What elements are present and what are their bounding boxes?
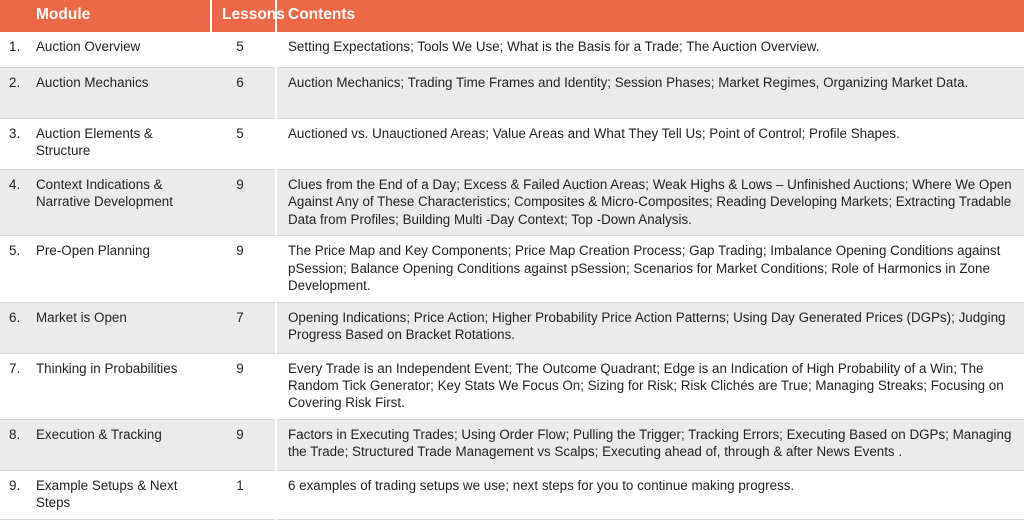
row-module-title: Pre-Open Planning <box>36 236 211 302</box>
row-module-title: Context Indications & Narrative Developm… <box>36 170 211 236</box>
row-number: 6. <box>0 302 36 353</box>
table-header: Module Lessons Contents <box>0 0 1024 32</box>
row-lessons-count: 6 <box>211 68 276 119</box>
table-header-row: Module Lessons Contents <box>0 0 1024 32</box>
column-header-lessons: Lessons <box>211 0 276 32</box>
row-number: 4. <box>0 170 36 236</box>
row-lessons-count: 7 <box>211 302 276 353</box>
row-number: 9. <box>0 470 36 519</box>
row-module-title: Market is Open <box>36 302 211 353</box>
row-number: 3. <box>0 119 36 170</box>
row-lessons-count: 9 <box>211 170 276 236</box>
row-number: 8. <box>0 419 36 470</box>
row-module-title: Execution & Tracking <box>36 419 211 470</box>
row-contents: Clues from the End of a Day; Excess & Fa… <box>276 170 1024 236</box>
row-number: 1. <box>0 32 36 68</box>
row-contents: Factors in Executing Trades; Using Order… <box>276 419 1024 470</box>
row-contents: 6 examples of trading setups we use; nex… <box>276 470 1024 519</box>
table-body: 1. Auction Overview 5 Setting Expectatio… <box>0 32 1024 519</box>
table-row: 9. Example Setups & Next Steps 1 6 examp… <box>0 470 1024 519</box>
table-row: 3. Auction Elements & Structure 5 Auctio… <box>0 119 1024 170</box>
row-lessons-count: 5 <box>211 119 276 170</box>
column-header-number <box>0 0 36 32</box>
course-curriculum-table: Module Lessons Contents 1. Auction Overv… <box>0 0 1024 520</box>
table-row: 2. Auction Mechanics 6 Auction Mechanics… <box>0 68 1024 119</box>
row-number: 5. <box>0 236 36 302</box>
table-row: 7. Thinking in Probabilities 9 Every Tra… <box>0 353 1024 419</box>
table-row: 6. Market is Open 7 Opening Indications;… <box>0 302 1024 353</box>
row-lessons-count: 9 <box>211 353 276 419</box>
row-lessons-count: 5 <box>211 32 276 68</box>
row-module-title: Auction Elements & Structure <box>36 119 211 170</box>
row-contents: Auction Mechanics; Trading Time Frames a… <box>276 68 1024 119</box>
table-row: 1. Auction Overview 5 Setting Expectatio… <box>0 32 1024 68</box>
row-contents: Every Trade is an Independent Event; The… <box>276 353 1024 419</box>
row-module-title: Auction Overview <box>36 32 211 68</box>
row-lessons-count: 1 <box>211 470 276 519</box>
row-lessons-count: 9 <box>211 236 276 302</box>
row-module-title: Example Setups & Next Steps <box>36 470 211 519</box>
row-lessons-count: 9 <box>211 419 276 470</box>
column-header-module: Module <box>36 0 211 32</box>
row-module-title: Thinking in Probabilities <box>36 353 211 419</box>
column-header-contents: Contents <box>276 0 1024 32</box>
row-number: 2. <box>0 68 36 119</box>
row-number: 7. <box>0 353 36 419</box>
row-contents: Setting Expectations; Tools We Use; What… <box>276 32 1024 68</box>
table-row: 5. Pre-Open Planning 9 The Price Map and… <box>0 236 1024 302</box>
table-row: 4. Context Indications & Narrative Devel… <box>0 170 1024 236</box>
row-contents: Opening Indications; Price Action; Highe… <box>276 302 1024 353</box>
row-module-title: Auction Mechanics <box>36 68 211 119</box>
row-contents: The Price Map and Key Components; Price … <box>276 236 1024 302</box>
table-row: 8. Execution & Tracking 9 Factors in Exe… <box>0 419 1024 470</box>
row-contents: Auctioned vs. Unauctioned Areas; Value A… <box>276 119 1024 170</box>
